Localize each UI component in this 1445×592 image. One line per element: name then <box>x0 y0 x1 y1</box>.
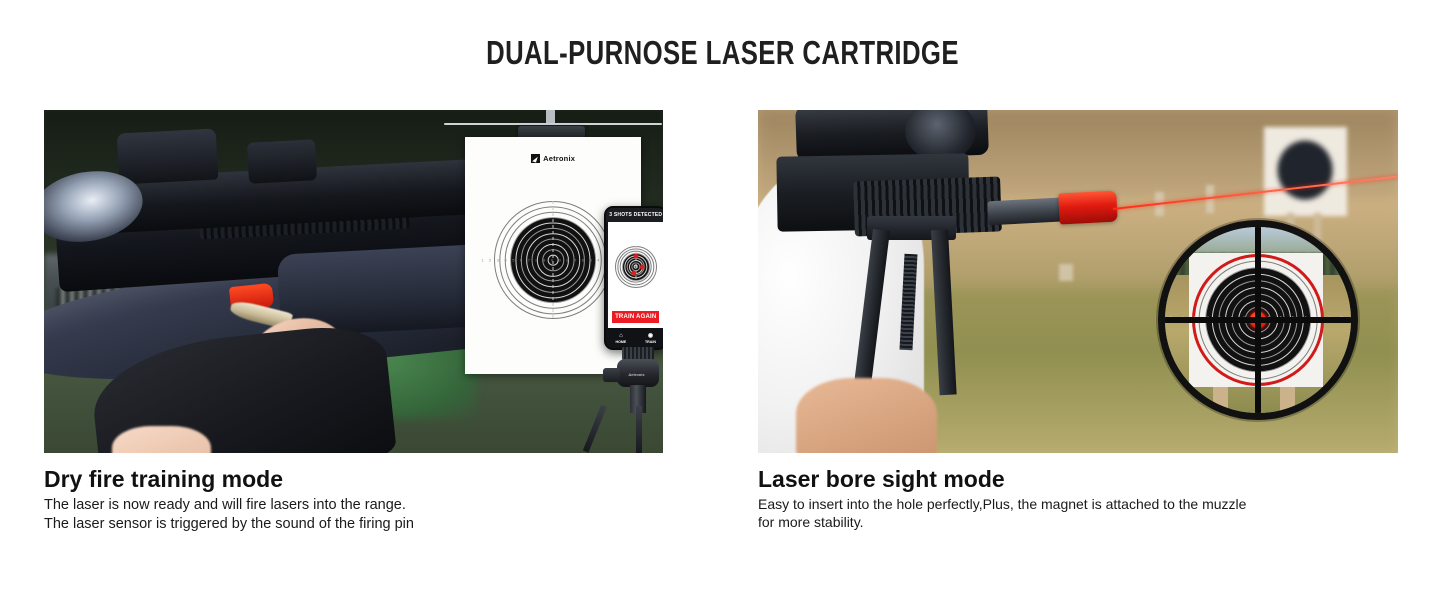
caption-bore-sight: Laser bore sight mode Easy to insert int… <box>758 466 1418 532</box>
aetronix-logo-icon <box>531 154 540 163</box>
scope-turret-elevation <box>117 128 219 185</box>
nav-item-train[interactable]: ◉ TRAIN <box>645 333 656 344</box>
caption-heading: Dry fire training mode <box>44 466 704 492</box>
panel-bore-sight: 9 8 7 6 5 4 3 2 1 0 1 2 3 4 5 6 7 8 9 La… <box>758 110 1398 532</box>
ring-tick-vertical <box>635 246 636 288</box>
phone-mockup: 3 SHOTS DETECTED TRAIN AGAIN ⌂ HOME ◉ <box>604 206 663 350</box>
page-title: DUAL-PURNOSE LASER CARTRIDGE <box>159 34 1286 72</box>
nav-label-train: TRAIN <box>645 340 656 344</box>
shot-marker <box>640 265 644 269</box>
tripod-brand-label: Aetronix <box>628 372 644 377</box>
phone-tripod: Aetronix <box>589 347 663 453</box>
shot-marker <box>634 254 638 258</box>
panel-dry-fire: Aetronix 1 2 3 4 5 6 7 8 9 0 9 8 7 6 5 4… <box>44 110 685 534</box>
caption-dry-fire: Dry fire training mode The laser is now … <box>44 466 704 534</box>
dry-fire-photo: Aetronix 1 2 3 4 5 6 7 8 9 0 9 8 7 6 5 4… <box>44 110 663 453</box>
bore-sight-photo: 9 8 7 6 5 4 3 2 1 0 1 2 3 4 5 6 7 8 9 <box>758 110 1398 453</box>
target-icon: ◉ <box>648 333 653 339</box>
nav-label-home: HOME <box>616 340 627 344</box>
phone-volume-button <box>604 244 606 262</box>
shooter-arm <box>796 378 937 453</box>
distant-target <box>1264 127 1347 216</box>
hanger-bar <box>444 123 663 125</box>
target-brand-label: Aetronix <box>543 154 575 163</box>
product-infographic: DUAL-PURNOSE LASER CARTRIDGE <box>0 0 1445 592</box>
scope-turret-windage <box>247 139 317 184</box>
range-post <box>1059 264 1073 281</box>
phone-target-rings <box>615 246 657 288</box>
train-again-button[interactable]: TRAIN AGAIN <box>611 310 660 324</box>
phone-screen: TRAIN AGAIN <box>608 222 663 328</box>
shots-detected-status: 3 SHOTS DETECTED <box>606 208 663 222</box>
tripod-leg <box>636 406 642 453</box>
home-icon: ⌂ <box>619 333 623 339</box>
caption-body: Easy to insert into the hole perfectly,P… <box>758 496 1418 532</box>
tripod-phone-clamp <box>622 347 654 361</box>
caption-heading: Laser bore sight mode <box>758 466 1418 492</box>
reticle-crosshair-horizontal <box>1165 317 1351 323</box>
scope-view-inset: 9 8 7 6 5 4 3 2 1 0 1 2 3 4 5 6 7 8 9 <box>1158 220 1358 420</box>
nav-item-home[interactable]: ⌂ HOME <box>616 333 627 344</box>
tripod-lock-knob <box>603 368 621 382</box>
target-brand-logo: Aetronix <box>531 154 575 163</box>
phone-bottom-nav: ⌂ HOME ◉ TRAIN <box>606 328 663 348</box>
laser-bore-sight-cartridge <box>1058 191 1117 225</box>
caption-body: The laser is now ready and will fire las… <box>44 496 704 533</box>
distant-target-bull <box>1278 141 1333 200</box>
